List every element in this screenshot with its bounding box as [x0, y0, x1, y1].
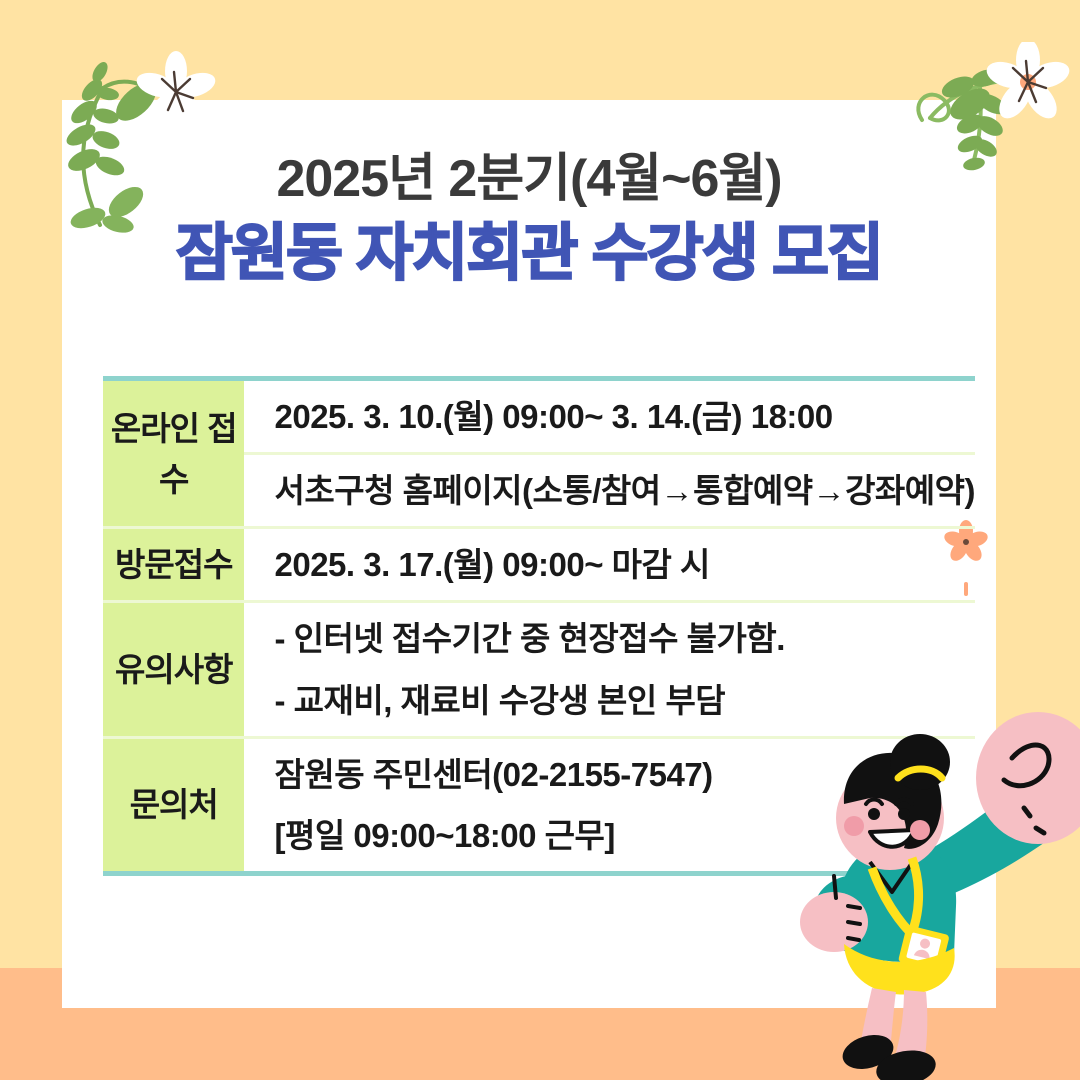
- value-line: 서초구청 홈페이지(소통/참여→통합예약→강좌예약): [274, 465, 975, 516]
- value-line: 잠원동 주민센터(02-2155-7547): [274, 749, 975, 800]
- row-label-online-registration: 온라인 접수: [103, 379, 244, 528]
- table-row: 유의사항 - 인터넷 접수기간 중 현장접수 불가함. - 교재비, 재료비 수…: [103, 602, 975, 737]
- row-value-notices: - 인터넷 접수기간 중 현장접수 불가함. - 교재비, 재료비 수강생 본인…: [244, 602, 975, 737]
- title-block: 2025년 2분기(4월~6월) 잠원동 자치회관 수강생 모집: [62, 150, 996, 289]
- row-value-online-period: 2025. 3. 10.(월) 09:00~ 3. 14.(금) 18:00: [244, 379, 975, 454]
- value-line: - 교재비, 재료비 수강생 본인 부담: [274, 675, 975, 726]
- row-label-notices: 유의사항: [103, 602, 244, 737]
- row-value-visit-registration: 2025. 3. 17.(월) 09:00~ 마감 시: [244, 528, 975, 602]
- value-line: - 인터넷 접수기간 중 현장접수 불가함.: [274, 613, 975, 664]
- row-label-line: 문의처: [130, 786, 218, 823]
- row-value-contact: 잠원동 주민센터(02-2155-7547) [평일 09:00~18:00 근…: [244, 737, 975, 873]
- value-line: 2025. 3. 17.(월) 09:00~ 마감 시: [274, 539, 975, 590]
- registration-info-table: 온라인 접수 2025. 3. 10.(월) 09:00~ 3. 14.(금) …: [103, 376, 975, 876]
- poster-main-title: 잠원동 자치회관 수강생 모집: [62, 218, 996, 289]
- row-label-visit-registration: 방문접수: [103, 528, 244, 602]
- table-row: 문의처 잠원동 주민센터(02-2155-7547) [평일 09:00~18:…: [103, 737, 975, 873]
- row-label-line: 유의사항: [115, 651, 232, 688]
- value-line: [평일 09:00~18:00 근무]: [274, 810, 975, 861]
- row-value-online-website: 서초구청 홈페이지(소통/참여→통합예약→강좌예약): [244, 454, 975, 528]
- poster-canvas: 2025년 2분기(4월~6월) 잠원동 자치회관 수강생 모집 온라인 접수 …: [0, 0, 1080, 1080]
- poster-subtitle: 2025년 2분기(4월~6월): [62, 150, 996, 210]
- table-row: 온라인 접수 2025. 3. 10.(월) 09:00~ 3. 14.(금) …: [103, 379, 975, 454]
- table-row: 방문접수 2025. 3. 17.(월) 09:00~ 마감 시: [103, 528, 975, 602]
- row-label-line: 온라인: [111, 410, 199, 447]
- row-label-line: 방문접수: [115, 546, 232, 583]
- value-line: 2025. 3. 10.(월) 09:00~ 3. 14.(금) 18:00: [274, 391, 975, 442]
- row-label-contact: 문의처: [103, 737, 244, 873]
